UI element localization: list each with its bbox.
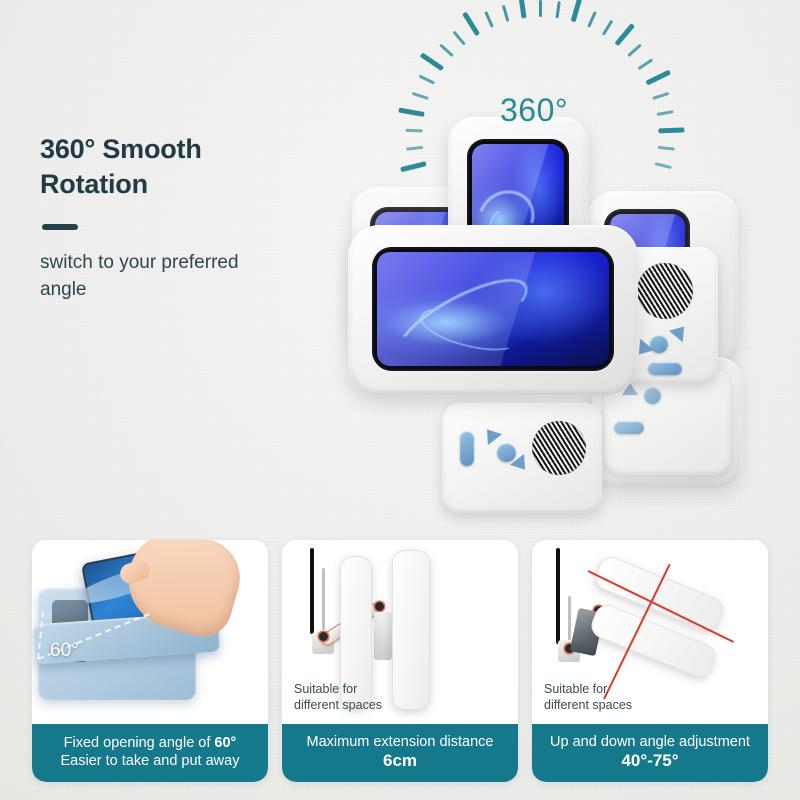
arc-tick-minor bbox=[501, 5, 509, 22]
caption-line-1: Fixed opening angle of 60° bbox=[64, 735, 237, 753]
hint-line-1: Suitable for bbox=[294, 681, 382, 697]
arc-tick-major bbox=[462, 12, 480, 37]
card-caption: Fixed opening angle of 60° Easier to tak… bbox=[32, 724, 268, 782]
feature-card-up-down-angle-adjustment[interactable]: Suitable for different spaces Up and dow… bbox=[532, 540, 768, 782]
subhead-line-1: switch to your preferred bbox=[40, 252, 239, 273]
feature-card-fixed-opening-angle[interactable]: 60° Fixed opening angle of 60° Easier to… bbox=[32, 540, 268, 782]
wallpaper-swirl bbox=[388, 264, 537, 366]
headline-line-2: Rotation bbox=[40, 169, 148, 199]
button-power[interactable] bbox=[648, 362, 682, 375]
subhead-line-2: angle bbox=[40, 279, 87, 300]
card-hint: Suitable for different spaces bbox=[544, 681, 632, 714]
button-power[interactable] bbox=[614, 421, 644, 434]
arc-tick-minor bbox=[587, 11, 597, 28]
page-subtitle: switch to your preferred angle bbox=[40, 250, 340, 304]
product-unit-bottom bbox=[442, 403, 602, 513]
arc-degree-label: 360° bbox=[500, 92, 568, 129]
card-caption: Up and down angle adjustment 40°-75° bbox=[532, 724, 768, 782]
wall-line-secondary bbox=[568, 596, 571, 644]
button-power[interactable] bbox=[460, 431, 474, 466]
arc-tick-minor bbox=[637, 58, 653, 70]
hint-line-1: Suitable for bbox=[544, 681, 632, 697]
title-divider bbox=[42, 224, 78, 230]
arc-tick-major bbox=[419, 52, 443, 71]
card-illustration: Suitable for different spaces bbox=[532, 540, 768, 725]
hint-line-2: different spaces bbox=[294, 697, 382, 713]
speaker-grille-icon bbox=[637, 263, 693, 319]
wall-line-secondary bbox=[322, 568, 325, 630]
product-unit-main bbox=[348, 225, 638, 395]
wall-line bbox=[310, 548, 314, 634]
pivot-upper-icon bbox=[375, 602, 384, 611]
caption-highlight: 60° bbox=[214, 735, 236, 751]
arc-tick-minor bbox=[452, 31, 465, 46]
screen-wallpaper bbox=[377, 252, 609, 366]
card-illustration: 60° bbox=[32, 540, 268, 725]
button-select[interactable] bbox=[497, 443, 516, 462]
feature-card-maximum-extension-distance[interactable]: Suitable for different spaces Maximum ex… bbox=[282, 540, 518, 782]
wall-line bbox=[556, 548, 560, 644]
caption-value: 6cm bbox=[383, 751, 417, 772]
arc-tick-minor bbox=[601, 20, 613, 36]
caption-line-2: Easier to take and put away bbox=[61, 753, 240, 771]
caption-line-1: Maximum extension distance bbox=[307, 734, 494, 752]
speaker-grille-icon bbox=[532, 421, 586, 475]
arc-tick-major bbox=[614, 23, 635, 46]
caption-line-1: Up and down angle adjustment bbox=[550, 734, 750, 752]
hint-line-2: different spaces bbox=[544, 697, 632, 713]
caption-text: Fixed opening angle of bbox=[64, 735, 215, 751]
arc-tick-minor bbox=[555, 1, 560, 18]
arc-tick-major bbox=[570, 0, 582, 22]
headline-line-1: 360° Smooth bbox=[40, 134, 202, 164]
headline-block: 360° Smooth Rotation switch to your pref… bbox=[40, 132, 340, 304]
card-caption: Maximum extension distance 6cm bbox=[282, 724, 518, 782]
arc-tick-major bbox=[517, 0, 526, 18]
product-cluster bbox=[330, 95, 770, 535]
card-hint: Suitable for different spaces bbox=[294, 681, 382, 714]
phone-screen bbox=[372, 247, 614, 371]
pivot-lower-icon bbox=[319, 632, 328, 641]
arc-tick-minor bbox=[484, 11, 494, 28]
angle-badge: 60° bbox=[50, 640, 79, 662]
product-feature-page: 360° 360° Smooth Rotation switch to your… bbox=[0, 0, 800, 800]
feature-card-list: 60° Fixed opening angle of 60° Easier to… bbox=[0, 540, 800, 790]
arc-tick-major bbox=[645, 70, 671, 86]
button-triangle-up-icon[interactable] bbox=[480, 424, 502, 445]
page-title: 360° Smooth Rotation bbox=[40, 132, 340, 202]
case-side-view-far bbox=[392, 550, 430, 710]
button-triangle-up-icon[interactable] bbox=[669, 321, 691, 343]
card-illustration: Suitable for different spaces bbox=[282, 540, 518, 725]
arc-tick-minor bbox=[439, 44, 454, 58]
arc-tick-minor bbox=[627, 44, 642, 58]
wallpaper-swirl-2 bbox=[416, 299, 524, 359]
arc-tick-minor bbox=[418, 74, 435, 84]
caption-value: 40°-75° bbox=[621, 751, 678, 772]
arc-tick-minor bbox=[539, 0, 542, 17]
case-bracket bbox=[374, 612, 392, 660]
control-panel bbox=[442, 403, 602, 513]
button-select[interactable] bbox=[644, 387, 661, 404]
